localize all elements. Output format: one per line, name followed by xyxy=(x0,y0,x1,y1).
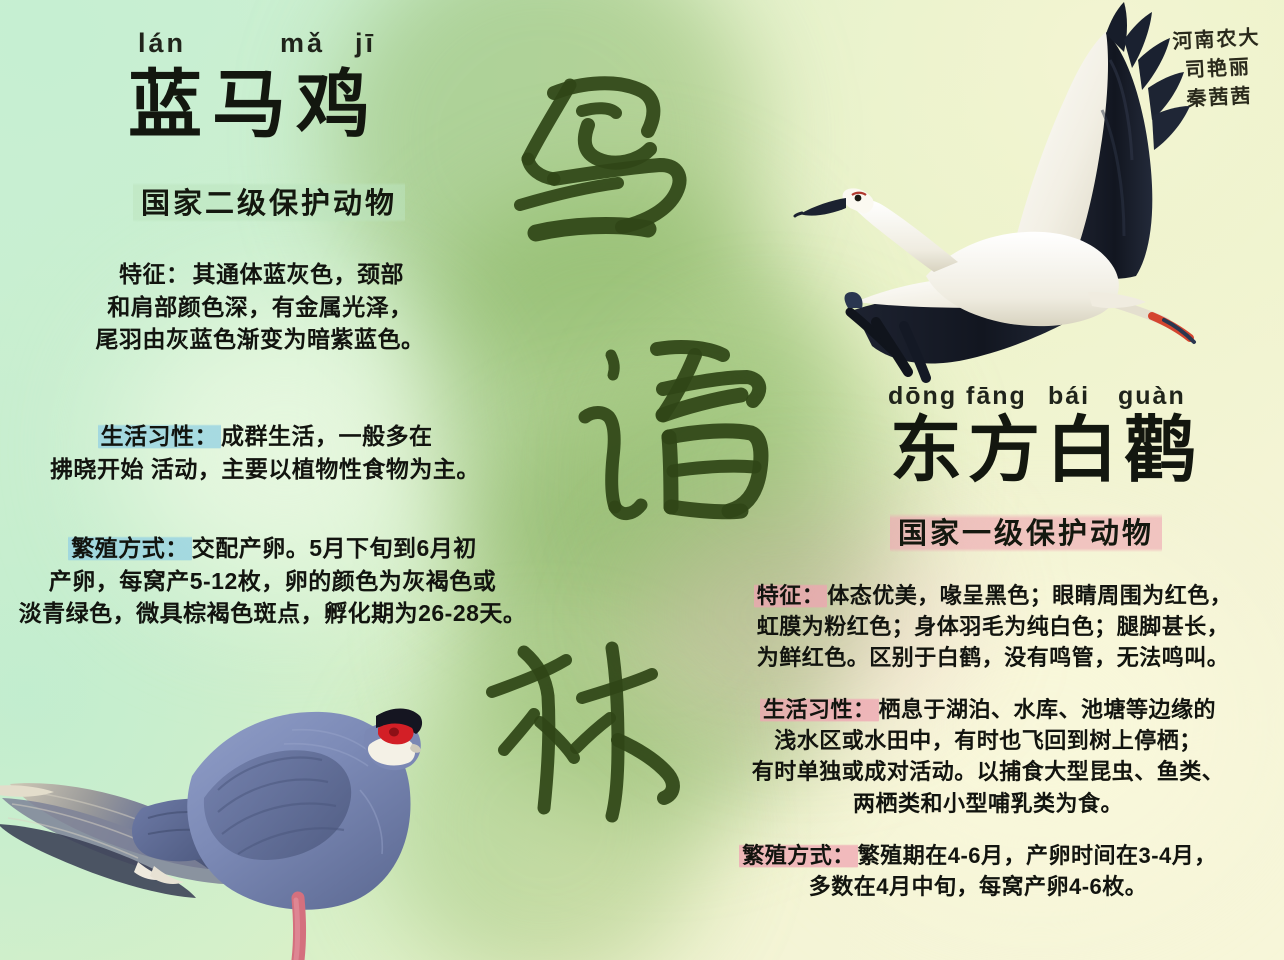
text-line: 为鲜红色。区别于白鹤，没有鸣管，无法鸣叫。 xyxy=(704,642,1282,673)
section-label: 特征： xyxy=(116,260,193,288)
blue-eared-pheasant-photo xyxy=(0,648,422,960)
text-line: 两栖类和小型哺乳类为食。 xyxy=(694,788,1282,819)
text-run: 栖息于湖泊、水库、池塘等边缘的 xyxy=(879,697,1217,722)
right-section-breeding: 繁殖方式：繁殖期在4-6月，产卵时间在3-4月， 多数在4月中旬，每窝产卵4-6… xyxy=(672,840,1284,902)
text-run: 体态优美，喙呈黑色；眼睛周围为红色， xyxy=(827,583,1232,608)
pinyin-syllable: dōng xyxy=(888,382,966,411)
text-run: 其通体蓝灰色，颈部 xyxy=(193,261,405,287)
text-run: 成群生活，一般多在 xyxy=(221,423,433,449)
text-line: 繁殖方式：交配产卵。5月下旬到6月初 xyxy=(0,532,545,565)
pinyin-syllable: jī xyxy=(355,28,376,59)
section-label: 生活习性： xyxy=(98,422,222,450)
oriental-stork-photo xyxy=(788,0,1200,380)
text-run: 交配产卵。5月下旬到6月初 xyxy=(192,535,477,561)
text-line: 多数在4月中旬，每窝产卵4-6枚。 xyxy=(672,871,1284,902)
left-bird-pinyin: lánmǎjī xyxy=(138,28,376,59)
text-line: 淡青绿色，微具棕褐色斑点，孵化期为26-28天。 xyxy=(0,597,545,630)
pinyin-syllable: guàn xyxy=(1118,382,1186,411)
left-bird-name: 蓝马鸡 xyxy=(128,68,380,142)
pinyin-syllable: fāng xyxy=(966,382,1048,411)
poster-canvas: lánmǎjī 蓝马鸡 国家二级保护动物 特征：其通体蓝灰色，颈部 和肩部颜色深… xyxy=(0,0,1284,960)
section-label: 繁殖方式： xyxy=(739,842,858,869)
right-section-habits: 生活习性：栖息于湖泊、水库、池塘等边缘的 浅水区或水田中，有时也飞回到树上停栖；… xyxy=(694,694,1282,819)
section-label: 生活习性： xyxy=(760,696,879,723)
right-bird-name: 东方白鹳 xyxy=(890,415,1202,487)
pinyin-syllable: mǎ xyxy=(250,28,355,59)
text-run: 繁殖期在4-6月，产卵时间在3-4月， xyxy=(858,843,1217,868)
text-line: 和肩部颜色深，有金属光泽， xyxy=(0,291,520,324)
text-line: 特征：其通体蓝灰色，颈部 xyxy=(0,258,520,291)
text-line: 浅水区或水田中，有时也飞回到树上停栖； xyxy=(694,725,1282,756)
text-line: 产卵，每窝产5-12枚，卵的颜色为灰褐色或 xyxy=(0,565,545,598)
pinyin-syllable: bái xyxy=(1048,382,1118,411)
calligraphy-char-lin xyxy=(462,630,702,830)
right-section-features: 特征：体态优美，喙呈黑色；眼睛周围为红色， 虹膜为粉红色；身体羽毛为纯白色；腿脚… xyxy=(704,580,1282,674)
left-section-habits: 生活习性：成群生活，一般多在 拂晓开始 活动，主要以植物性食物为主。 xyxy=(0,420,530,485)
pinyin-syllable: lán xyxy=(138,28,250,59)
text-line: 拂晓开始 活动，主要以植物性食物为主。 xyxy=(0,453,530,486)
text-line: 特征：体态优美，喙呈黑色；眼睛周围为红色， xyxy=(704,580,1282,611)
text-line: 生活习性：成群生活，一般多在 xyxy=(0,420,530,453)
text-line: 生活习性：栖息于湖泊、水库、池塘等边缘的 xyxy=(694,694,1282,725)
left-section-features: 特征：其通体蓝灰色，颈部 和肩部颜色深，有金属光泽， 尾羽由灰蓝色渐变为暗紫蓝色… xyxy=(0,258,520,356)
background-blob xyxy=(380,660,710,960)
right-bird-pinyin: dōngfāngbáiguàn xyxy=(888,382,1186,411)
text-line: 繁殖方式：繁殖期在4-6月，产卵时间在3-4月， xyxy=(672,840,1284,871)
right-bird-protection-badge: 国家一级保护动物 xyxy=(890,508,1162,554)
left-section-breeding: 繁殖方式：交配产卵。5月下旬到6月初 产卵，每窝产5-12枚，卵的颜色为灰褐色或… xyxy=(0,532,545,630)
text-line: 有时单独或成对活动。以捕食大型昆虫、鱼类、 xyxy=(694,756,1282,787)
text-line: 虹膜为粉红色；身体羽毛为纯白色；腿脚甚长， xyxy=(704,611,1282,642)
text-line: 尾羽由灰蓝色渐变为暗紫蓝色。 xyxy=(0,323,520,356)
left-bird-protection-badge: 国家二级保护动物 xyxy=(133,178,405,224)
section-label: 特征： xyxy=(754,582,828,609)
section-label: 繁殖方式： xyxy=(68,534,192,562)
calligraphy-char-yu xyxy=(545,345,795,560)
